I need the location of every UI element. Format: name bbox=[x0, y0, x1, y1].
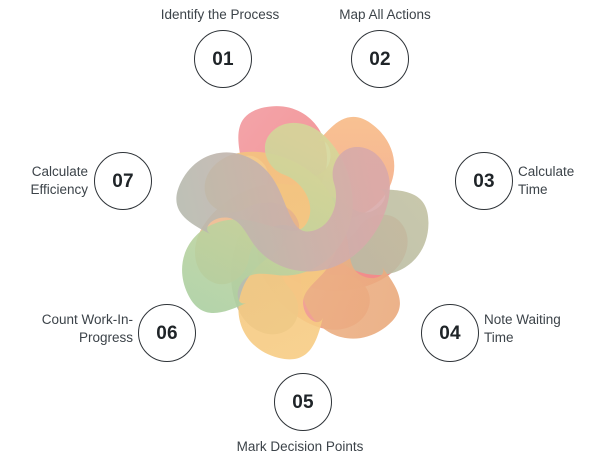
step-circle-01[interactable]: 01 bbox=[194, 30, 252, 88]
step-number-01: 01 bbox=[212, 50, 234, 69]
step-circle-06[interactable]: 06 bbox=[138, 304, 196, 362]
step-circle-03[interactable]: 03 bbox=[455, 152, 513, 210]
step-circle-04[interactable]: 04 bbox=[421, 304, 479, 362]
step-number-05: 05 bbox=[292, 393, 314, 412]
step-label-07: Calculate Efficiency bbox=[30, 163, 88, 199]
step-label-05: Mark Decision Points bbox=[237, 438, 364, 456]
step-number-07: 07 bbox=[112, 172, 134, 191]
process-cycle-infographic: 01Identify the Process02Map All Actions0… bbox=[0, 0, 600, 461]
step-circle-07[interactable]: 07 bbox=[94, 152, 152, 210]
step-label-02: Map All Actions bbox=[339, 6, 431, 24]
step-circle-02[interactable]: 02 bbox=[351, 30, 409, 88]
step-circle-05[interactable]: 05 bbox=[274, 373, 332, 431]
step-number-02: 02 bbox=[369, 50, 391, 69]
step-label-04: Note Waiting Time bbox=[484, 311, 561, 347]
step-number-04: 04 bbox=[439, 324, 461, 343]
step-label-06: Count Work-In- Progress bbox=[42, 311, 133, 347]
step-label-01: Identify the Process bbox=[161, 6, 280, 24]
step-label-03: Calculate Time bbox=[518, 163, 574, 199]
step-number-03: 03 bbox=[473, 172, 495, 191]
step-number-06: 06 bbox=[156, 324, 178, 343]
